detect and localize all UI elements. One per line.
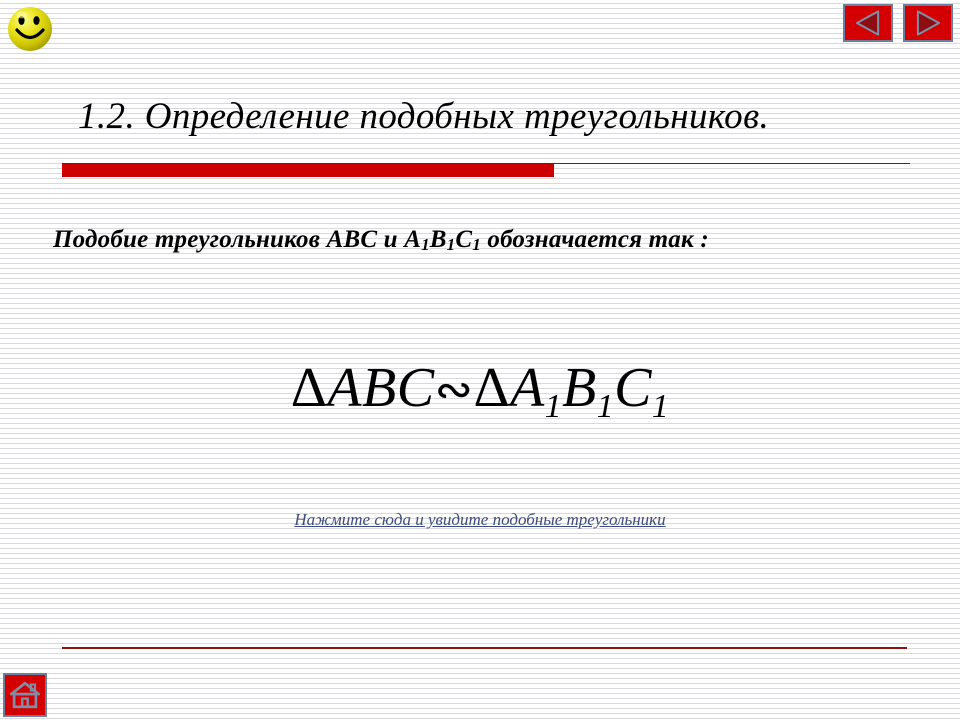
home-button[interactable]: [3, 673, 47, 717]
formula-triangle-1: Δ: [291, 357, 328, 419]
triangle-left-icon: [845, 6, 891, 40]
statement-line: Подобие треугольников ABC и A1B1C1 обозн…: [53, 226, 709, 255]
home-icon: [5, 675, 45, 715]
formula-triangle-2: Δ: [474, 357, 511, 419]
formula-c2: C: [614, 357, 652, 419]
slide-canvas: 1.2. Определение подобных треугольников.…: [0, 0, 960, 720]
formula-abc: ABC: [327, 357, 434, 419]
statement-suffix: обозначается так :: [481, 226, 709, 253]
title-accent-bar: [62, 164, 554, 177]
statement-sub-c1: 1: [472, 235, 481, 254]
formula-c2-subscript: 1: [652, 388, 669, 425]
statement-prefix: Подобие треугольников ABC и A: [53, 226, 421, 253]
hyperlink-row: Нажмите сюда и увидите подобные треуголь…: [0, 510, 960, 530]
formula-b2-subscript: 1: [597, 388, 614, 425]
statement-sub-a1: 1: [421, 235, 430, 254]
footer-rule: [62, 647, 907, 649]
similarity-formula: ΔABC∾ΔA1B1C1: [0, 356, 960, 426]
formula-a2: A: [510, 357, 545, 419]
smiley-face-icon: [6, 5, 54, 53]
formula-similar-operator: ∾: [435, 364, 474, 415]
statement-letter-b: B: [430, 226, 447, 253]
formula-a2-subscript: 1: [545, 388, 562, 425]
previous-slide-button[interactable]: [843, 4, 893, 42]
statement-letter-c: C: [455, 226, 472, 253]
formula-b2: B: [562, 357, 597, 419]
show-similar-triangles-link[interactable]: Нажмите сюда и увидите подобные треуголь…: [294, 510, 665, 529]
page-title: 1.2. Определение подобных треугольников.: [78, 98, 938, 137]
triangle-right-icon: [905, 6, 951, 40]
next-slide-button[interactable]: [903, 4, 953, 42]
